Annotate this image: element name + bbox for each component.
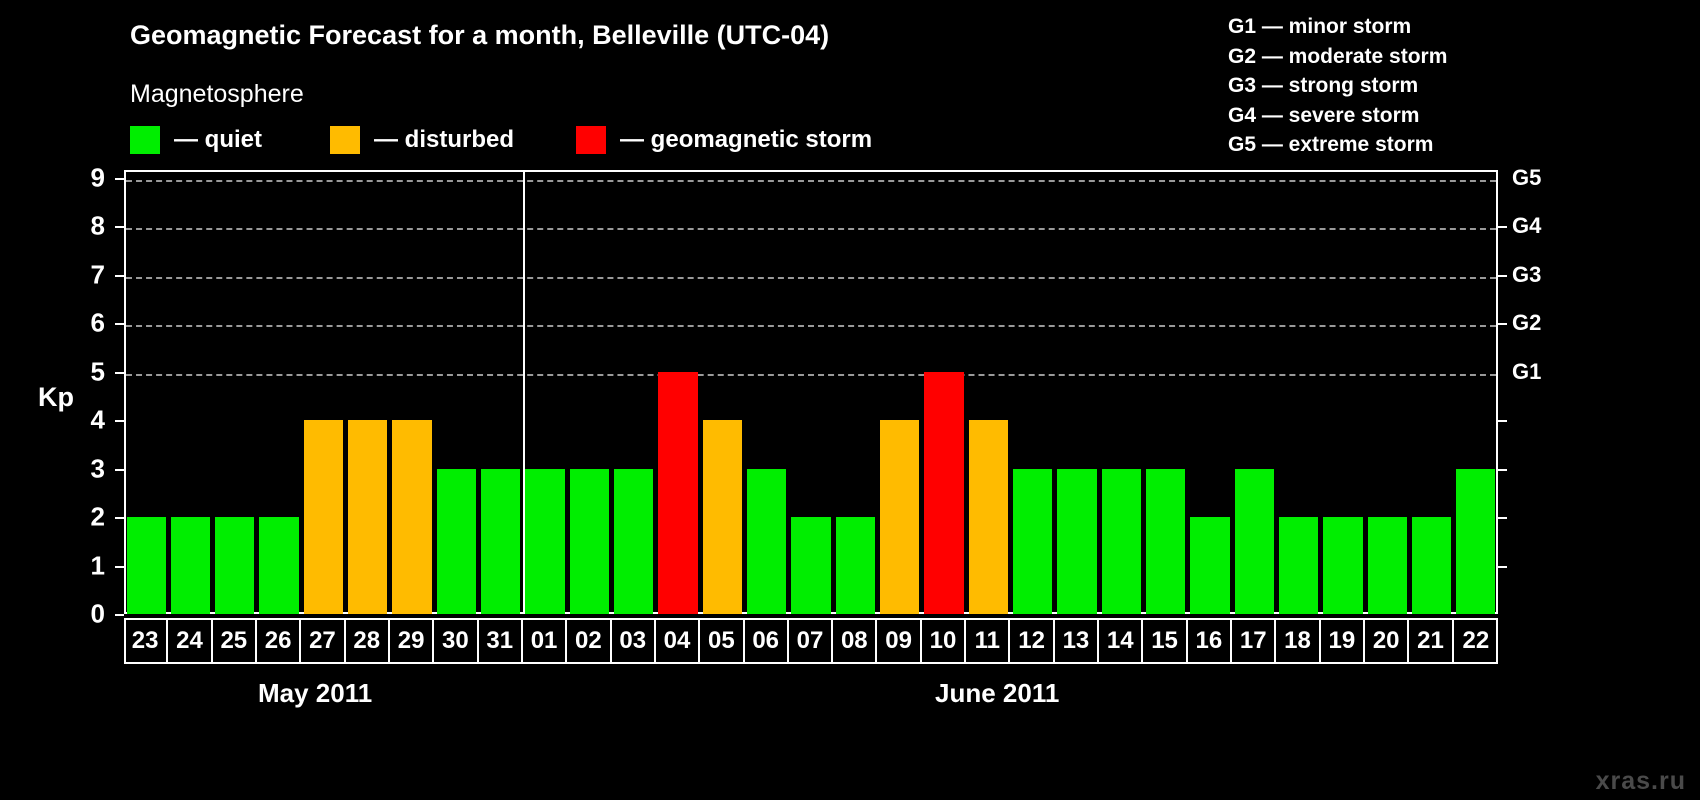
y-axis-tick-label: 8 bbox=[65, 211, 105, 242]
month-label-june: June 2011 bbox=[935, 678, 1059, 709]
bar[interactable] bbox=[1323, 517, 1362, 614]
day-label-12[interactable]: 12 bbox=[1010, 620, 1054, 662]
day-label-26[interactable]: 26 bbox=[257, 620, 301, 662]
day-label-17[interactable]: 17 bbox=[1232, 620, 1276, 662]
day-label-28[interactable]: 28 bbox=[346, 620, 390, 662]
bar[interactable] bbox=[836, 517, 875, 614]
right-axis-label-g2: G2 bbox=[1512, 310, 1541, 336]
day-label-04[interactable]: 04 bbox=[656, 620, 700, 662]
right-axis-tick bbox=[1498, 275, 1507, 277]
y-axis-tick bbox=[115, 178, 124, 180]
day-label-29[interactable]: 29 bbox=[390, 620, 434, 662]
bar[interactable] bbox=[171, 517, 210, 614]
y-axis-tick bbox=[115, 275, 124, 277]
day-label-03[interactable]: 03 bbox=[612, 620, 656, 662]
day-label-22[interactable]: 22 bbox=[1454, 620, 1498, 662]
y-axis-tick-label: 9 bbox=[65, 163, 105, 194]
y-axis-tick bbox=[115, 226, 124, 228]
bar[interactable] bbox=[1190, 517, 1229, 614]
y-axis-tick bbox=[115, 517, 124, 519]
legend-swatch-quiet bbox=[130, 126, 160, 154]
day-label-24[interactable]: 24 bbox=[168, 620, 212, 662]
right-axis-tick bbox=[1498, 566, 1507, 568]
storm-scale-g3: G3 — strong storm bbox=[1228, 71, 1447, 101]
storm-scale-g2: G2 — moderate storm bbox=[1228, 42, 1447, 72]
storm-scale-legend: G1 — minor storm G2 — moderate storm G3 … bbox=[1228, 12, 1447, 160]
y-axis-tick-label: 5 bbox=[65, 356, 105, 387]
y-axis-tick-label: 6 bbox=[65, 308, 105, 339]
bar[interactable] bbox=[127, 517, 166, 614]
bar[interactable] bbox=[1146, 469, 1185, 614]
right-axis-tick bbox=[1498, 226, 1507, 228]
day-label-20[interactable]: 20 bbox=[1365, 620, 1409, 662]
bar[interactable] bbox=[880, 420, 919, 614]
bar[interactable] bbox=[614, 469, 653, 614]
day-label-21[interactable]: 21 bbox=[1409, 620, 1453, 662]
right-axis-tick bbox=[1498, 323, 1507, 325]
legend-swatch-disturbed bbox=[330, 126, 360, 154]
chart-canvas: Geomagnetic Forecast for a month, Bellev… bbox=[0, 0, 1700, 800]
y-axis-tick-label: 7 bbox=[65, 259, 105, 290]
page-title: Geomagnetic Forecast for a month, Bellev… bbox=[130, 20, 829, 51]
bar[interactable] bbox=[1013, 469, 1052, 614]
bar[interactable] bbox=[481, 469, 520, 614]
bar-series bbox=[124, 178, 1498, 614]
legend-label-geomagnetic-storm: — geomagnetic storm bbox=[620, 126, 872, 154]
right-axis-tick bbox=[1498, 420, 1507, 422]
y-axis-tick bbox=[115, 420, 124, 422]
y-axis-tick-label: 2 bbox=[65, 502, 105, 533]
day-label-10[interactable]: 10 bbox=[922, 620, 966, 662]
bar[interactable] bbox=[570, 469, 609, 614]
day-label-31[interactable]: 31 bbox=[479, 620, 523, 662]
legend-item-geomagnetic-storm: — geomagnetic storm bbox=[576, 126, 872, 154]
bar[interactable] bbox=[1279, 517, 1318, 614]
bar[interactable] bbox=[525, 469, 564, 614]
legend-label-quiet: — quiet bbox=[174, 126, 262, 154]
day-label-27[interactable]: 27 bbox=[301, 620, 345, 662]
day-label-30[interactable]: 30 bbox=[434, 620, 478, 662]
bar[interactable] bbox=[924, 372, 963, 614]
y-axis-tick-label: 4 bbox=[65, 405, 105, 436]
right-axis-label-g3: G3 bbox=[1512, 262, 1541, 288]
bar[interactable] bbox=[348, 420, 387, 614]
bar[interactable] bbox=[1368, 517, 1407, 614]
right-axis-label-g5: G5 bbox=[1512, 165, 1541, 191]
y-axis-tick bbox=[115, 614, 124, 616]
legend-item-disturbed: — disturbed bbox=[330, 126, 514, 154]
day-label-06[interactable]: 06 bbox=[745, 620, 789, 662]
bar[interactable] bbox=[215, 517, 254, 614]
day-label-16[interactable]: 16 bbox=[1188, 620, 1232, 662]
bar[interactable] bbox=[791, 517, 830, 614]
y-axis-tick bbox=[115, 566, 124, 568]
y-axis-tick bbox=[115, 372, 124, 374]
day-label-14[interactable]: 14 bbox=[1099, 620, 1143, 662]
y-axis-tick bbox=[115, 323, 124, 325]
storm-scale-g5: G5 — extreme storm bbox=[1228, 130, 1447, 160]
bar[interactable] bbox=[1102, 469, 1141, 614]
day-label-25[interactable]: 25 bbox=[213, 620, 257, 662]
storm-scale-g1: G1 — minor storm bbox=[1228, 12, 1447, 42]
y-axis-tick-label: 1 bbox=[65, 550, 105, 581]
storm-scale-g4: G4 — severe storm bbox=[1228, 101, 1447, 131]
right-axis-label-g4: G4 bbox=[1512, 213, 1541, 239]
legend-swatch-geomagnetic-storm bbox=[576, 126, 606, 154]
day-label-13[interactable]: 13 bbox=[1055, 620, 1099, 662]
right-axis-label-g1: G1 bbox=[1512, 359, 1541, 385]
right-axis-tick bbox=[1498, 517, 1507, 519]
day-label-18[interactable]: 18 bbox=[1276, 620, 1320, 662]
bar[interactable] bbox=[703, 420, 742, 614]
bar[interactable] bbox=[437, 469, 476, 614]
bar[interactable] bbox=[1057, 469, 1096, 614]
magnetosphere-heading: Magnetosphere bbox=[130, 80, 304, 109]
day-label-05[interactable]: 05 bbox=[700, 620, 744, 662]
day-label-19[interactable]: 19 bbox=[1321, 620, 1365, 662]
y-axis-tick bbox=[115, 469, 124, 471]
day-label-strip: 2324252627282930310102030405060708091011… bbox=[124, 618, 1498, 664]
bar[interactable] bbox=[1412, 517, 1451, 614]
month-label-may: May 2011 bbox=[258, 678, 372, 709]
magnetosphere-legend: — quiet — disturbed — geomagnetic storm bbox=[130, 125, 872, 155]
bar[interactable] bbox=[1235, 469, 1274, 614]
day-label-01[interactable]: 01 bbox=[523, 620, 567, 662]
y-axis-tick-label: 3 bbox=[65, 453, 105, 484]
day-label-08[interactable]: 08 bbox=[833, 620, 877, 662]
watermark: xras.ru bbox=[1596, 767, 1686, 796]
day-label-23[interactable]: 23 bbox=[124, 620, 168, 662]
bar[interactable] bbox=[969, 420, 1008, 614]
day-label-02[interactable]: 02 bbox=[567, 620, 611, 662]
legend-label-disturbed: — disturbed bbox=[374, 126, 514, 154]
bar[interactable] bbox=[392, 420, 431, 614]
day-label-09[interactable]: 09 bbox=[877, 620, 921, 662]
y-axis-tick-label: 0 bbox=[65, 599, 105, 630]
bar[interactable] bbox=[304, 420, 343, 614]
day-label-11[interactable]: 11 bbox=[966, 620, 1010, 662]
right-axis-tick bbox=[1498, 469, 1507, 471]
bar[interactable] bbox=[747, 469, 786, 614]
day-label-15[interactable]: 15 bbox=[1143, 620, 1187, 662]
bar[interactable] bbox=[259, 517, 298, 614]
bar[interactable] bbox=[1456, 469, 1495, 614]
bar[interactable] bbox=[658, 372, 697, 614]
legend-item-quiet: — quiet bbox=[130, 126, 262, 154]
day-label-07[interactable]: 07 bbox=[789, 620, 833, 662]
